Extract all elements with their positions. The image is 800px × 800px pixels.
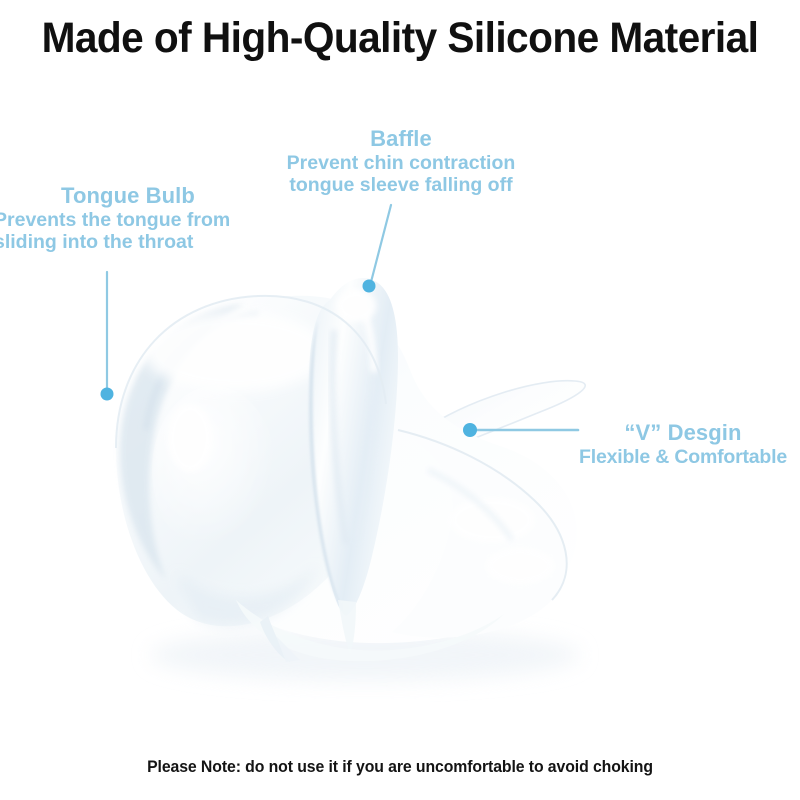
product-illustration bbox=[0, 0, 800, 800]
callout-v-design-heading: “V” Desgin bbox=[624, 420, 741, 445]
callout-baffle: Baffle Prevent chin contraction tongue s… bbox=[275, 126, 527, 197]
footer-note: Please Note: do not use it if you are un… bbox=[28, 757, 772, 777]
callout-tongue-bulb-line2: sliding into the throat bbox=[0, 231, 193, 253]
callout-v-design-line1: Flexible & Comfortable bbox=[579, 446, 787, 468]
callout-tongue-bulb-line1: Prevents the tongue from bbox=[0, 209, 230, 231]
callout-tongue-bulb: Tongue Bulb Prevents the tongue from sli… bbox=[0, 183, 262, 254]
callout-baffle-line2: tongue sleeve falling off bbox=[289, 174, 512, 196]
callout-baffle-heading: Baffle bbox=[370, 126, 432, 151]
callout-v-design: “V” Desgin Flexible & Comfortable bbox=[563, 420, 800, 468]
page-title: Made of High-Quality Silicone Material bbox=[22, 14, 778, 63]
callout-tongue-bulb-heading: Tongue Bulb bbox=[0, 183, 262, 209]
callout-baffle-line1: Prevent chin contraction bbox=[287, 152, 516, 174]
infographic-page: Made of High-Quality Silicone Material T… bbox=[0, 0, 800, 800]
